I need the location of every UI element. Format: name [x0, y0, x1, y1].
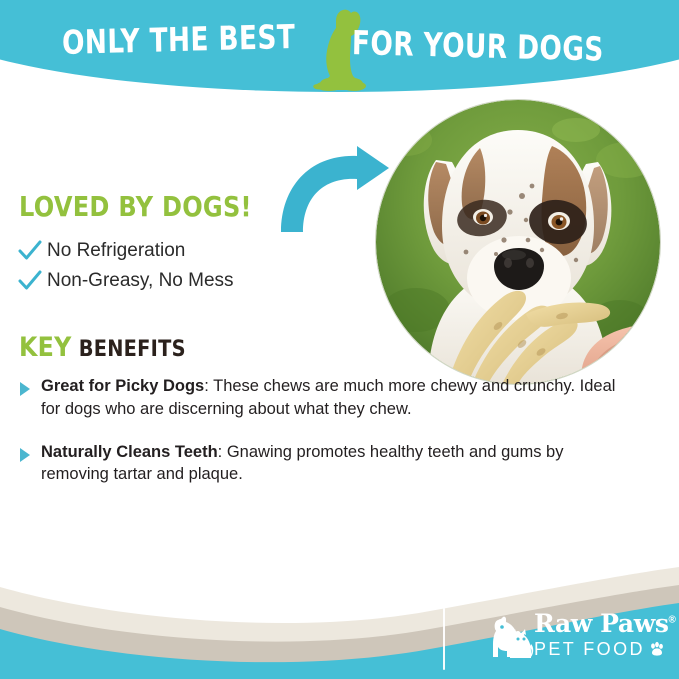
list-item-separator: :: [218, 443, 227, 461]
key-benefits-list: Great for Picky Dogs: These chews are mu…: [18, 375, 618, 506]
list-item-title: Naturally Cleans Teeth: [41, 443, 218, 461]
brand-tagline: PET FOOD: [534, 640, 675, 658]
key-benefits-heading-rest: BENEFITS: [79, 337, 186, 362]
checkmark-icon: [18, 269, 42, 293]
brand-logo: Raw Paws® PET FOOD: [487, 611, 662, 663]
list-item-text: Great for Picky Dogs: These chews are mu…: [41, 375, 618, 421]
list-item: No Refrigeration: [18, 236, 234, 266]
list-item-label: No Refrigeration: [47, 240, 185, 262]
loved-by-dogs-heading: LOVED BY DOGS!: [19, 190, 252, 223]
list-item: Non-Greasy, No Mess: [18, 266, 234, 296]
list-item-separator: :: [204, 377, 213, 395]
brand-tagline-text: PET FOOD: [534, 640, 645, 658]
dog-and-cat-logo-icon: [487, 613, 535, 661]
triangle-bullet-icon: [18, 447, 32, 463]
registered-mark: ®: [669, 615, 676, 626]
list-item-label: Non-Greasy, No Mess: [47, 270, 234, 292]
loved-by-dogs-list: No Refrigeration Non-Greasy, No Mess: [18, 236, 234, 296]
list-item-text: Naturally Cleans Teeth: Gnawing promotes…: [41, 441, 618, 487]
key-benefits-heading-accent: KEY: [19, 332, 72, 363]
paw-print-icon: [649, 641, 665, 657]
header-title-right: FOR YOUR DOGS: [352, 26, 604, 66]
list-item: Great for Picky Dogs: These chews are mu…: [18, 375, 618, 421]
brand-name-text: Raw Paws: [534, 609, 669, 638]
header-title-left: ONLY THE BEST: [62, 20, 296, 59]
brand-logo-text: Raw Paws® PET FOOD: [534, 611, 675, 658]
list-item: Naturally Cleans Teeth: Gnawing promotes…: [18, 441, 618, 487]
dog-eating-chew-photo: [376, 100, 660, 384]
header-banner: ONLY THE BEST FOR YOUR DOGS: [0, 0, 679, 92]
list-item-title: Great for Picky Dogs: [41, 377, 204, 395]
footer-divider: [443, 608, 445, 670]
triangle-bullet-icon: [18, 381, 32, 397]
product-infographic: ONLY THE BEST FOR YOUR DOGS: [0, 0, 679, 679]
checkmark-icon: [18, 239, 42, 263]
key-benefits-heading: KEYBENEFITS: [19, 332, 186, 363]
brand-name: Raw Paws®: [534, 611, 675, 636]
